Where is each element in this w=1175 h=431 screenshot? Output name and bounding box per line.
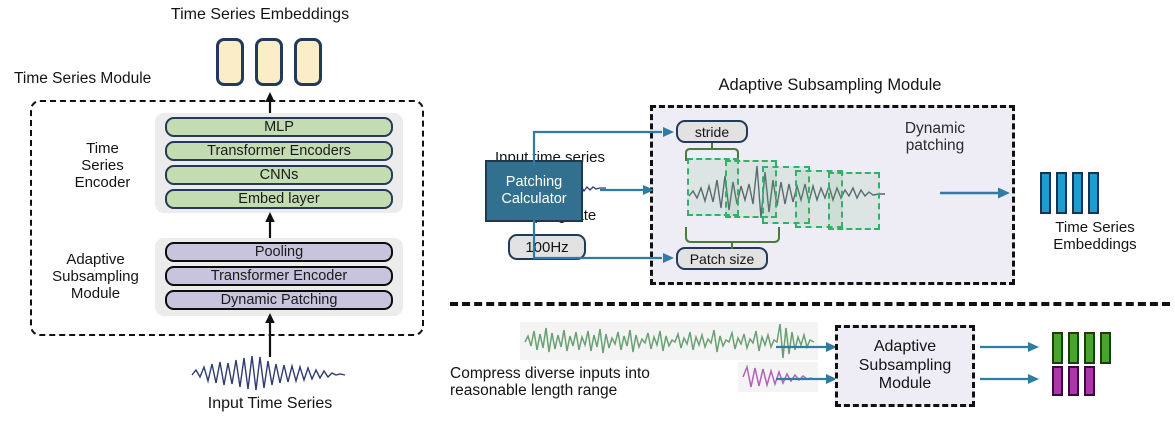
purple-embedding-bar-2 bbox=[1068, 366, 1079, 396]
subsampling-layer-transformer-encoder[interactable]: Transformer Encoder bbox=[165, 266, 393, 286]
encoder-layer-mlp[interactable]: MLP bbox=[165, 117, 393, 137]
encoder-layer-transformer-encoders[interactable]: Transformer Encoders bbox=[165, 141, 393, 161]
arrow-patching-to-embeddings bbox=[940, 185, 1012, 201]
green-embedding-bar-4 bbox=[1100, 332, 1111, 364]
embedding-token-2 bbox=[255, 38, 283, 86]
embedding-token-1 bbox=[216, 38, 244, 86]
arrow-short-series-to-module bbox=[776, 372, 840, 386]
patch-window-5 bbox=[828, 172, 880, 230]
arrow-calculator-to-stride bbox=[532, 128, 682, 168]
patch-size-brace bbox=[684, 227, 792, 249]
output-embedding-bar-4 bbox=[1088, 172, 1099, 214]
patch-size-pill[interactable]: Patch size bbox=[676, 247, 768, 270]
green-embedding-bar-3 bbox=[1084, 332, 1095, 364]
output-embeddings-caption: Time Series Embeddings bbox=[1020, 220, 1170, 254]
arrow-calculator-to-patch-size bbox=[532, 216, 682, 264]
green-embedding-bar-1 bbox=[1052, 332, 1063, 364]
subsampling-layer-pooling[interactable]: Pooling bbox=[165, 242, 393, 262]
patching-calculator-box[interactable]: Patching Calculator bbox=[485, 160, 583, 222]
right-panel: Adaptive Subsampling Module Input time s… bbox=[440, 0, 1175, 431]
embedding-token-3 bbox=[294, 38, 322, 86]
dynamic-patching-label: Dynamic patching bbox=[880, 120, 990, 155]
input-time-series-waveform bbox=[190, 355, 350, 391]
adaptive-subsampling-module-title: Adaptive Subsampling Module bbox=[630, 76, 1030, 94]
section-divider bbox=[450, 302, 1170, 306]
time-series-module-label: Time Series Module bbox=[14, 70, 199, 87]
adaptive-subsampling-module-box-bottom[interactable]: Adaptive Subsampling Module bbox=[835, 325, 975, 407]
arrow-module-to-green-bars bbox=[980, 340, 1042, 354]
adaptive-subsampling-module-label: Adaptive Subsampling Module bbox=[38, 252, 153, 302]
purple-embedding-bar-1 bbox=[1052, 366, 1063, 396]
left-panel: Time Series Embeddings Time Series Modul… bbox=[0, 0, 440, 431]
purple-embedding-bar-3 bbox=[1084, 366, 1095, 396]
output-embedding-bar-1 bbox=[1040, 172, 1051, 214]
input-time-series-caption: Input Time Series bbox=[175, 395, 365, 413]
time-series-encoder-label: Time Series Encoder bbox=[55, 141, 150, 191]
long-input-waveform bbox=[524, 322, 816, 360]
green-embedding-bar-2 bbox=[1068, 332, 1079, 364]
stride-pill[interactable]: stride bbox=[676, 120, 748, 143]
ts-embeddings-caption: Time Series Embeddings bbox=[140, 6, 380, 24]
arrow-input-to-dynamic-patching bbox=[262, 313, 278, 357]
arrow-input-to-patching-calculator bbox=[600, 182, 656, 198]
arrow-long-series-to-module bbox=[776, 340, 840, 354]
arrow-module-to-purple-bars bbox=[980, 372, 1042, 386]
encoder-layer-cnns[interactable]: CNNs bbox=[165, 165, 393, 185]
output-embedding-bar-2 bbox=[1056, 172, 1067, 214]
subsampling-layer-dynamic-patching[interactable]: Dynamic Patching bbox=[165, 290, 393, 310]
output-embedding-bar-3 bbox=[1072, 172, 1083, 214]
encoder-layer-embed-layer[interactable]: Embed layer bbox=[165, 189, 393, 209]
compress-caption: Compress diverse inputs into reasonable … bbox=[450, 365, 740, 400]
